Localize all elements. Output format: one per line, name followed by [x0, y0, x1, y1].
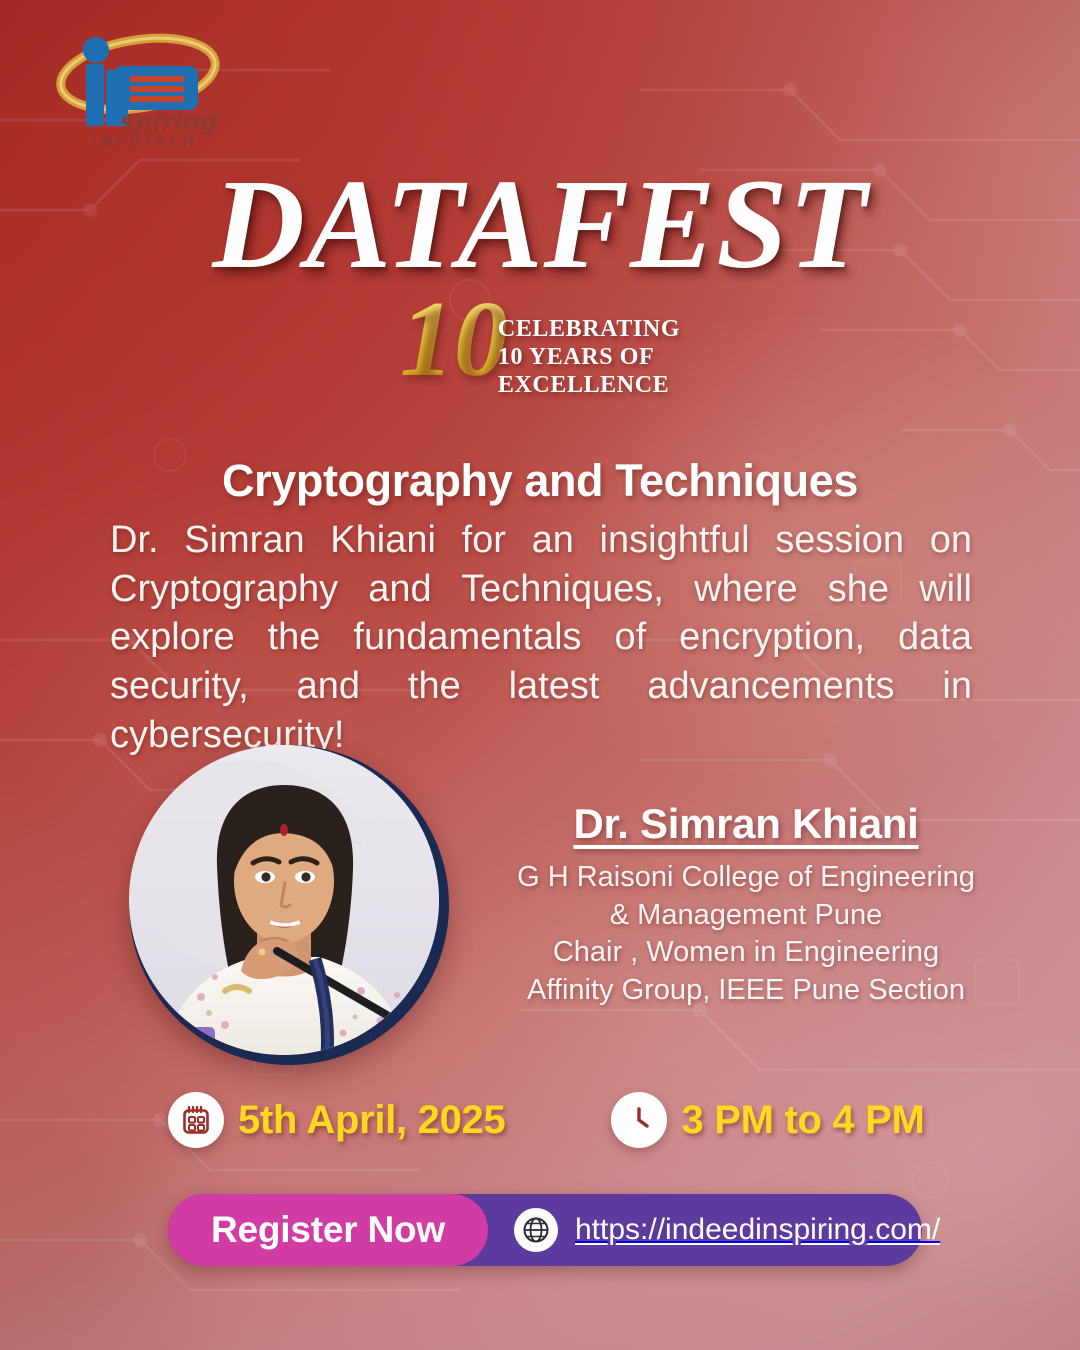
register-button[interactable]: Register Now	[168, 1194, 488, 1266]
event-title: DATAFEST	[0, 160, 1080, 288]
affiliation-line-2: & Management Pune	[470, 897, 1022, 935]
website-link[interactable]: https://indeedinspiring.com/	[514, 1208, 940, 1252]
speaker-photo	[129, 745, 439, 1055]
event-date-text: 5th April, 2025	[238, 1098, 505, 1143]
clock-icon	[611, 1092, 667, 1148]
speaker-info: Dr. Simran Khiani G H Raisoni College of…	[470, 800, 1022, 1010]
svg-text:INFOTECH: INFOTECH	[92, 135, 198, 148]
schedule-row: 5th April, 2025 3 PM to 4 PM	[168, 1092, 925, 1148]
affiliation-line-1: G H Raisoni College of Engineering	[470, 859, 1022, 897]
globe-icon	[514, 1208, 558, 1252]
anniversary-line-3: EXCELLENCE	[498, 372, 680, 400]
event-poster: spiring INFOTECH DATAFEST 10 CELEBRATING…	[0, 0, 1080, 1350]
anniversary-number: 10	[400, 290, 508, 389]
affiliation-line-4: Affinity Group, IEEE Pune Section	[470, 972, 1022, 1010]
event-time-text: 3 PM to 4 PM	[681, 1098, 924, 1143]
event-title-fest: FEST	[544, 160, 868, 288]
website-url-text: https://indeedinspiring.com/	[575, 1213, 940, 1247]
anniversary-line-2: 10 YEARS OF	[498, 344, 680, 372]
calendar-icon	[168, 1092, 224, 1148]
affiliation-line-3: Chair , Women in Engineering	[470, 934, 1022, 972]
svg-text:spiring: spiring	[120, 107, 218, 136]
cta-bar: Register Now https://indeedinspiring.com…	[168, 1194, 922, 1266]
session-title: Cryptography and Techniques	[0, 455, 1080, 507]
anniversary-line-1: CELEBRATING	[498, 316, 680, 344]
event-date: 5th April, 2025	[168, 1092, 505, 1148]
anniversary-text: CELEBRATING 10 YEARS OF EXCELLENCE	[498, 294, 680, 399]
anniversary-badge: 10 CELEBRATING 10 YEARS OF EXCELLENCE	[0, 294, 1080, 399]
speaker-name: Dr. Simran Khiani	[470, 800, 1022, 848]
event-title-data: DATA	[212, 160, 543, 288]
event-time: 3 PM to 4 PM	[611, 1092, 924, 1148]
speaker-affiliation: G H Raisoni College of Engineering & Man…	[470, 859, 1022, 1010]
company-logo[interactable]: spiring INFOTECH	[52, 26, 242, 148]
register-button-label: Register Now	[211, 1209, 445, 1251]
